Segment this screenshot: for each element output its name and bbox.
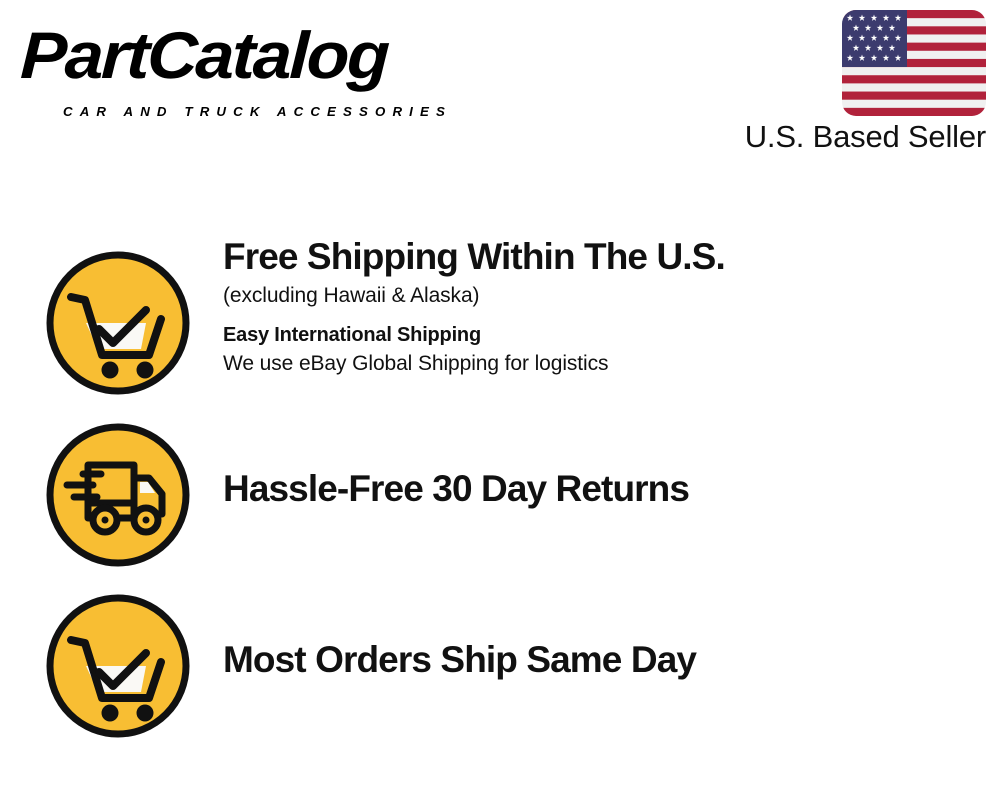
feature-note: (excluding Hawaii & Alaska) bbox=[223, 282, 983, 310]
delivery-truck-icon bbox=[45, 422, 191, 568]
feature-text-block: Most Orders Ship Same Day bbox=[223, 638, 983, 682]
us-based-seller-label: U.S. Based Seller bbox=[745, 119, 986, 155]
feature-sub-heading: Easy International Shipping bbox=[223, 322, 983, 349]
shopping-cart-check-icon bbox=[45, 593, 191, 739]
feature-heading: Most Orders Ship Same Day bbox=[223, 638, 983, 682]
feature-text-block: Hassle-Free 30 Day Returns bbox=[223, 467, 983, 511]
feature-heading: Hassle-Free 30 Day Returns bbox=[223, 467, 983, 511]
brand-logo[interactable]: PartCatalog CAR AND TRUCK ACCESSORIES bbox=[22, 18, 492, 114]
feature-sub-note: We use eBay Global Shipping for logistic… bbox=[223, 349, 983, 378]
feature-heading: Free Shipping Within The U.S. bbox=[223, 235, 983, 279]
brand-wordmark: PartCatalog bbox=[19, 18, 389, 92]
shopping-cart-check-icon bbox=[45, 250, 191, 396]
brand-tagline: CAR AND TRUCK ACCESSORIES bbox=[63, 104, 452, 119]
feature-text-block: Free Shipping Within The U.S. (excluding… bbox=[223, 235, 983, 378]
us-flag-icon bbox=[842, 10, 986, 116]
